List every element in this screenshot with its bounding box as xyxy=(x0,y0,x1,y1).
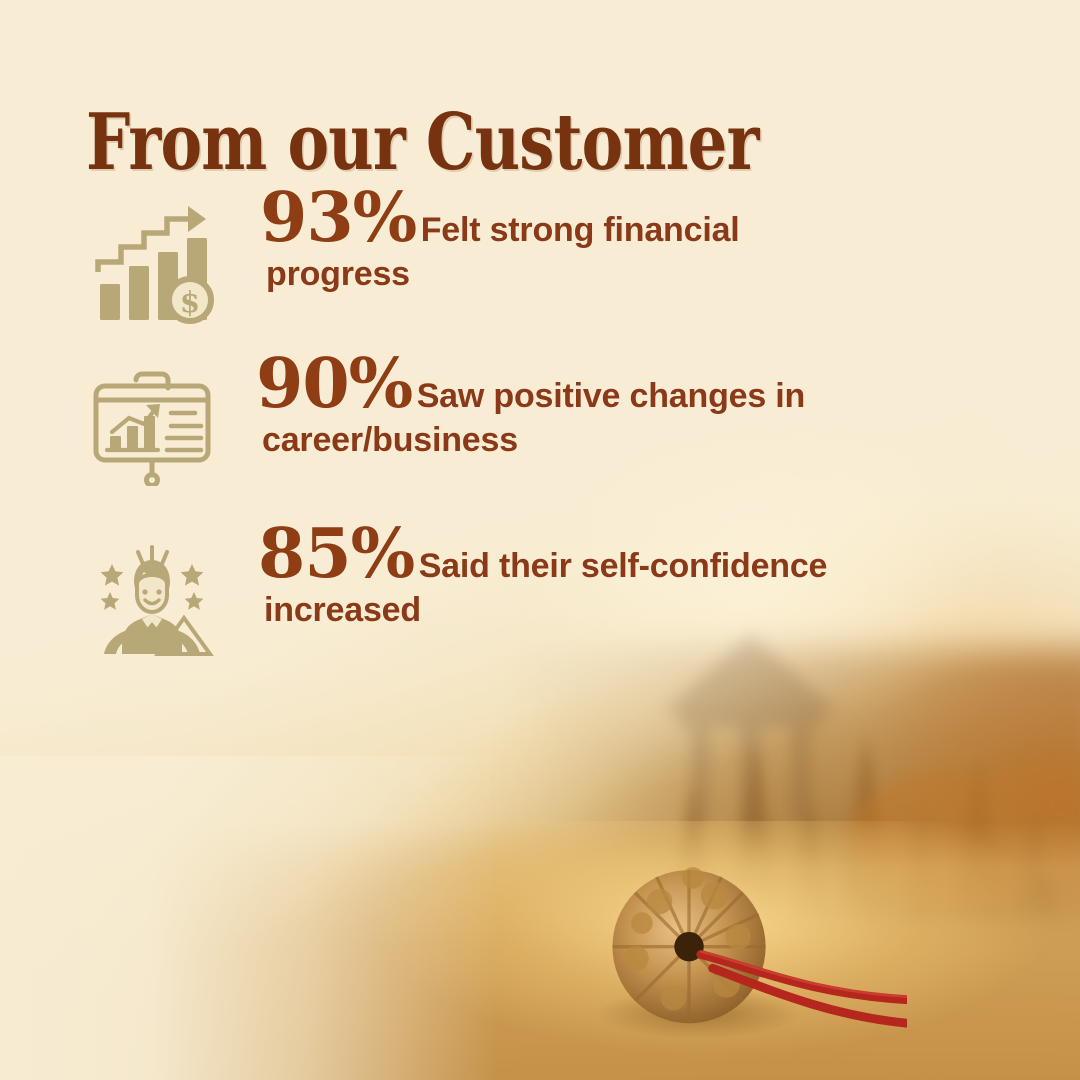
confident-person-stars-icon xyxy=(88,530,216,658)
presentation-board-chart-icon xyxy=(88,358,216,486)
testimonial-stats-poster: From our Customer xyxy=(0,0,1080,1080)
stat-row: 85% Said their self-confidence increased xyxy=(0,524,1080,682)
stat-row: 90% Saw positive changes in career/busin… xyxy=(0,354,1080,512)
page-title: From our Customer xyxy=(86,104,759,182)
stat-row: $ 93% Felt strong financial progress xyxy=(0,188,1080,346)
stat-percent: 93% xyxy=(260,178,416,258)
bar-chart-growth-dollar-icon: $ xyxy=(88,200,216,328)
svg-text:$: $ xyxy=(180,285,200,319)
poster-content: From our Customer xyxy=(0,0,1080,1080)
stat-percent: 90% xyxy=(256,344,412,424)
stat-percent: 85% xyxy=(258,514,414,594)
stats-list: $ 93% Felt strong financial progress xyxy=(0,188,1080,662)
